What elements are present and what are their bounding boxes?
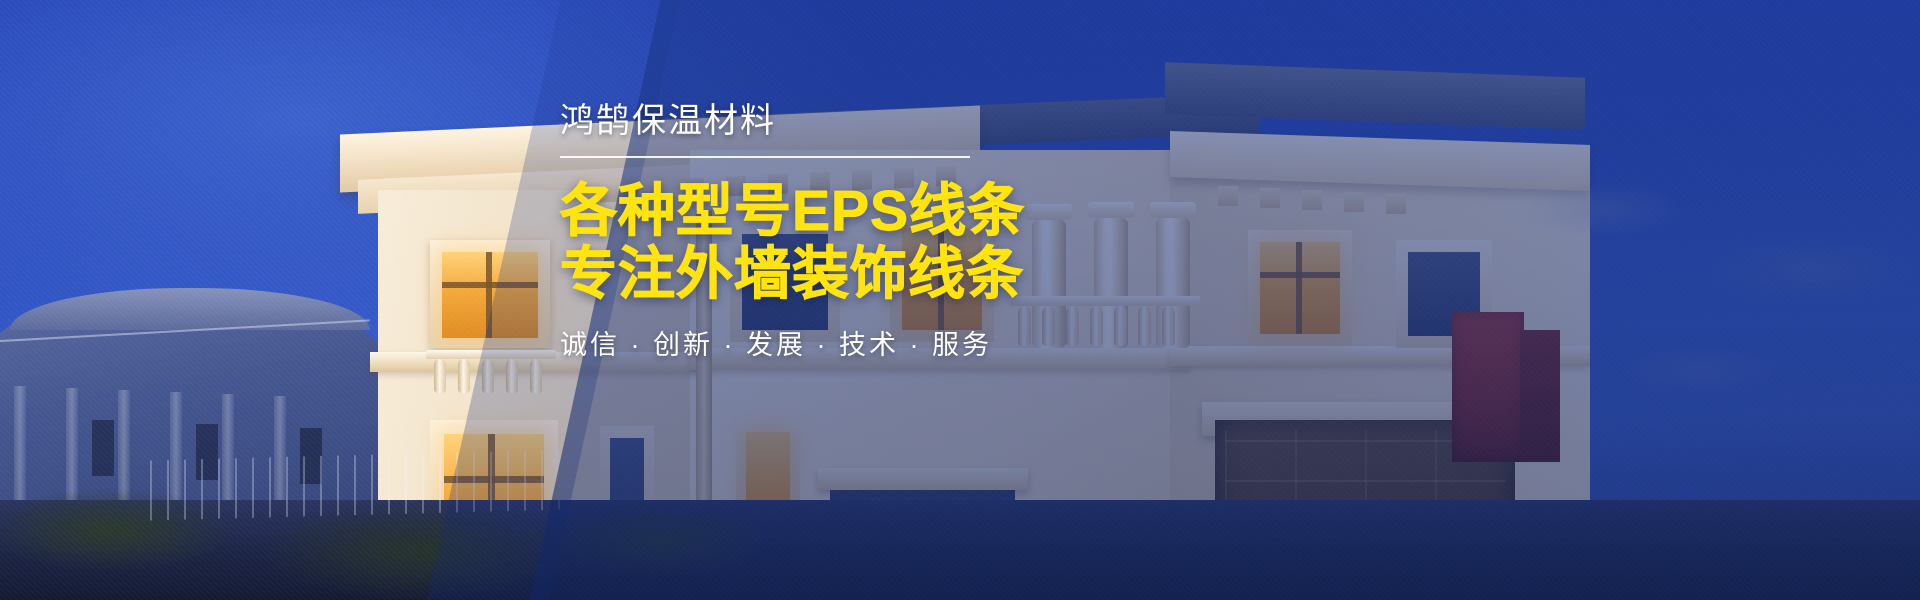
window-mullion — [486, 252, 492, 338]
headline-line-1: 各种型号EPS线条 — [560, 180, 1020, 243]
window-transom — [1260, 272, 1340, 278]
column-capital — [1026, 204, 1072, 220]
value-tagline: 诚信 · 创新 · 发展 · 技术 · 服务 — [560, 332, 1020, 359]
baluster — [1138, 306, 1151, 346]
baluster — [530, 359, 542, 393]
red-container-side — [1520, 330, 1560, 462]
entrance-lintel — [818, 468, 1028, 490]
cornice-dentil — [1386, 194, 1406, 214]
cornice-dentil — [1302, 190, 1322, 210]
distant-window — [92, 420, 114, 476]
copy-stack: 鸿鹄保温材料 各种型号EPS线条 专注外墙装饰线条 诚信 · 创新 · 发展 ·… — [560, 104, 1020, 359]
column-capital — [1150, 202, 1196, 218]
balustrade-rail — [1010, 296, 1200, 306]
divider-rule — [560, 156, 970, 158]
cornice-dentil — [1344, 192, 1364, 212]
cornice-dentil — [1260, 188, 1280, 208]
hero-banner: 鸿鹄保温材料 各种型号EPS线条 专注外墙装饰线条 诚信 · 创新 · 发展 ·… — [0, 0, 1920, 600]
baluster — [1090, 306, 1103, 346]
baluster — [506, 359, 518, 393]
window-mullion — [1296, 242, 1302, 334]
red-container — [1452, 312, 1524, 462]
headline-line-2: 专注外墙装饰线条 — [560, 243, 1020, 306]
baluster — [458, 359, 470, 393]
balustrade-rail — [426, 350, 556, 359]
column-capital — [1088, 202, 1134, 218]
baluster — [482, 359, 494, 393]
window-transom — [442, 282, 538, 288]
cornice-dentil — [1218, 186, 1238, 206]
baluster — [1114, 306, 1127, 346]
brand-eyebrow: 鸿鹄保温材料 — [560, 104, 1020, 138]
baluster — [1066, 306, 1079, 346]
foreground-fence — [150, 450, 570, 521]
baluster — [434, 359, 446, 393]
baluster — [1042, 306, 1055, 346]
baluster — [1162, 306, 1175, 346]
